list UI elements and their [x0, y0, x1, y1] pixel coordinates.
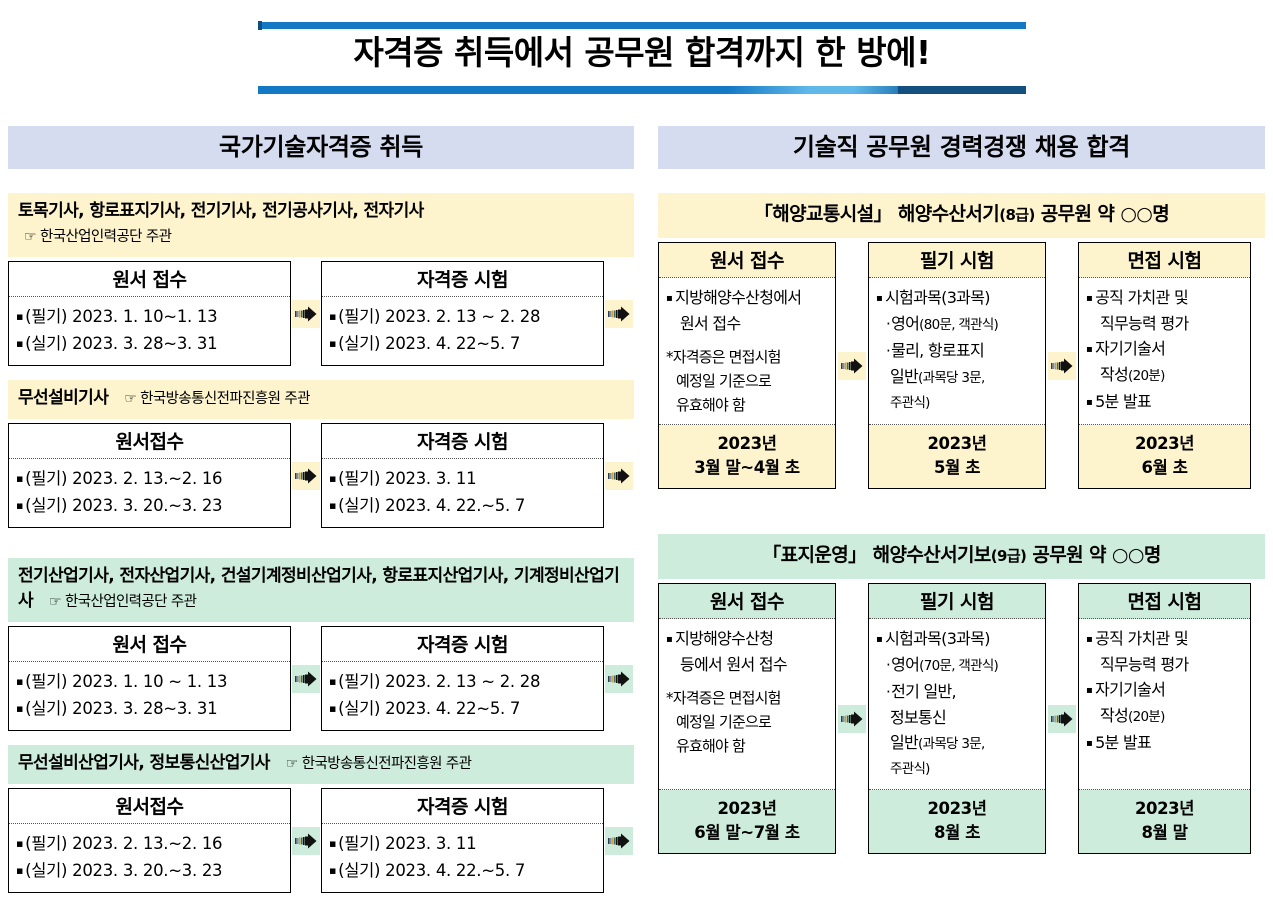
- schedule-row: ▪(실기) 2023. 3. 20.~3. 23: [16, 857, 286, 884]
- arrow-right-icon: [1048, 705, 1076, 733]
- stage-schedule: 2023년8월 말: [1079, 790, 1250, 853]
- step-title: 자격증 시험: [322, 424, 603, 459]
- flow-arrow: [604, 788, 634, 893]
- bullet-square-icon: ▪: [1086, 634, 1092, 645]
- cert-step-box: 자격증 시험▪(필기) 2023. 3. 11▪(실기) 2023. 4. 22…: [321, 423, 604, 528]
- bullet-square-icon: ▪: [1086, 293, 1092, 304]
- arrow-right-icon: [605, 462, 633, 490]
- detail-note: (과목당 3문,: [918, 736, 985, 752]
- stage-line: 일반(과목당 3문,: [876, 730, 1039, 757]
- bullet-square-icon: ▪: [1086, 344, 1092, 355]
- flow-arrow: [604, 261, 634, 366]
- stage-schedule: 2023년3월 말~4월 초: [659, 425, 835, 488]
- schedule-period: 8월 말: [1079, 821, 1250, 845]
- stage-note: 유효해야 함: [666, 734, 829, 758]
- stage-line: ▪지방해양수산청: [666, 626, 829, 652]
- schedule-row: ▪(실기) 2023. 3. 28~3. 31: [16, 330, 286, 357]
- schedule-year: 2023년: [1079, 797, 1250, 821]
- schedule-period: 8월 초: [869, 821, 1045, 845]
- recruitment-group: 「표지운영」 해양수산서기보(9급) 공무원 약 ○○명원서 접수▪지방해양수산…: [658, 489, 1265, 854]
- flow-arrow: [291, 788, 321, 893]
- arrow-right-icon: [292, 462, 320, 490]
- step-body: ▪(필기) 2023. 2. 13 ~ 2. 28▪(실기) 2023. 4. …: [322, 662, 603, 730]
- bullet-square-icon: ▪: [329, 702, 336, 715]
- schedule-row: ▪(필기) 2023. 2. 13.~2. 16: [16, 465, 286, 492]
- bullet-square-icon: ▪: [329, 337, 336, 350]
- stage-title: 면접 시험: [1079, 243, 1250, 278]
- stage-note: *자격증은 면접시험: [666, 345, 829, 369]
- bullet-square-icon: ▪: [16, 472, 23, 485]
- hand-pointer-icon: ☞: [49, 594, 61, 610]
- stage-line: 주관식): [876, 757, 1039, 782]
- arrow-right-icon: [292, 300, 320, 328]
- bullet-square-icon: ▪: [16, 310, 23, 323]
- group-spacer: [8, 366, 634, 380]
- cert-group: 무선설비기사 ☞ 한국방송통신전파진흥원 주관원서접수▪(필기) 2023. 2…: [8, 366, 634, 528]
- stage-line: ▪5분 발표: [1086, 730, 1244, 756]
- position-count: 공무원 약 ○○명: [1026, 544, 1160, 566]
- stage-line: ▪시험과목(3과목): [876, 626, 1039, 652]
- organizer-label: ☞ 한국방송통신전파진흥원 주관: [124, 391, 310, 407]
- stage-title: 면접 시험: [1079, 584, 1250, 619]
- arrow-right-icon: [292, 827, 320, 855]
- schedule-period: 5월 초: [869, 456, 1045, 480]
- schedule-row: ▪(필기) 2023. 1. 10 ~ 1. 13: [16, 668, 286, 695]
- cert-name-band: 무선설비기사 ☞ 한국방송통신전파진흥원 주관: [8, 380, 634, 419]
- schedule-year: 2023년: [869, 797, 1045, 821]
- line-gap: [666, 677, 829, 686]
- stage-title: 필기 시험: [869, 243, 1045, 278]
- flow-arrow: [291, 626, 321, 731]
- position-grade: (8급): [999, 206, 1035, 224]
- stage-box: 필기 시험▪시험과목(3과목)·영어(80문, 객관식)·물리, 항로표지일반(…: [868, 242, 1046, 489]
- stage-box: 원서 접수▪지방해양수산청에서원서 접수*자격증은 면접시험예정일 기준으로유효…: [658, 242, 836, 489]
- detail-note: (20분): [1128, 368, 1165, 384]
- arrow-right-icon: [1048, 352, 1076, 380]
- stage-note: 예정일 기준으로: [666, 710, 829, 734]
- bullet-square-icon: ▪: [329, 675, 336, 688]
- stage-body: ▪공직 가치관 및직무능력 평가▪자기기술서작성(20분)▪5분 발표: [1079, 278, 1250, 425]
- detail-note: (80문, 객관식): [919, 317, 998, 333]
- schedule-row: ▪(실기) 2023. 3. 28~3. 31: [16, 695, 286, 722]
- group-spacer: [8, 731, 634, 745]
- stage-line: 정보통신: [876, 705, 1039, 730]
- step-body: ▪(필기) 2023. 1. 10 ~ 1. 13▪(실기) 2023. 3. …: [9, 662, 290, 730]
- bullet-square-icon: ▪: [329, 472, 336, 485]
- group-spacer: [8, 169, 634, 193]
- stage-box: 원서 접수▪지방해양수산청등에서 원서 접수*자격증은 면접시험예정일 기준으로…: [658, 583, 836, 854]
- schedule-row: ▪(필기) 2023. 2. 13 ~ 2. 28: [329, 303, 599, 330]
- flow-arrow: [291, 423, 321, 528]
- position-title-band: 「표지운영」 해양수산서기보(9급) 공무원 약 ○○명: [658, 534, 1265, 579]
- bullet-square-icon: ▪: [16, 337, 23, 350]
- group-spacer: [658, 489, 1265, 534]
- stage-box: 필기 시험▪시험과목(3과목)·영어(70문, 객관식)·전기 일반,정보통신일…: [868, 583, 1046, 854]
- schedule-year: 2023년: [659, 797, 835, 821]
- stage-line: ▪공직 가치관 및: [1086, 285, 1244, 311]
- organizer-label: ☞ 한국산업인력공단 주관: [49, 594, 196, 610]
- page-title-banner: 자격증 취득에서 공무원 합격까지 한 방에!: [258, 22, 1026, 94]
- schedule-year: 2023년: [659, 432, 835, 456]
- cert-step-row: 원서 접수▪(필기) 2023. 1. 10 ~ 1. 13▪(실기) 2023…: [8, 626, 634, 731]
- schedule-row: ▪(필기) 2023. 3. 11: [329, 465, 599, 492]
- step-title: 원서접수: [9, 424, 290, 459]
- arrow-right-icon: [292, 665, 320, 693]
- schedule-row: ▪(실기) 2023. 3. 20.~3. 23: [16, 492, 286, 519]
- organizer-label: ☞ 한국방송통신전파진흥원 주관: [286, 756, 472, 772]
- cert-group: 무선설비산업기사, 정보통신산업기사 ☞ 한국방송통신전파진흥원 주관원서접수▪…: [8, 731, 634, 893]
- stage-line: 주관식): [876, 391, 1039, 416]
- stage-line: 직무능력 평가: [1086, 652, 1244, 677]
- cert-step-row: 원서접수▪(필기) 2023. 2. 13.~2. 16▪(실기) 2023. …: [8, 788, 634, 893]
- stage-body: ▪시험과목(3과목)·영어(70문, 객관식)·전기 일반,정보통신일반(과목당…: [869, 619, 1045, 790]
- stage-line: ·전기 일반,: [876, 679, 1039, 705]
- bullet-square-icon: ▪: [16, 702, 23, 715]
- cert-name-band: 무선설비산업기사, 정보통신산업기사 ☞ 한국방송통신전파진흥원 주관: [8, 745, 634, 784]
- cert-step-box: 원서 접수▪(필기) 2023. 1. 10 ~ 1. 13▪(실기) 2023…: [8, 626, 291, 731]
- stage-line: ▪공직 가치관 및: [1086, 626, 1244, 652]
- page-title: 자격증 취득에서 공무원 합격까지 한 방에!: [258, 30, 1026, 76]
- flow-arrow: [291, 261, 321, 366]
- step-title: 자격증 시험: [322, 789, 603, 824]
- arrow-right-icon: [838, 352, 866, 380]
- bullet-square-icon: ▪: [1086, 685, 1092, 696]
- cert-group: 전기산업기사, 전자산업기사, 건설기계정비산업기사, 항로표지산업기사, 기계…: [8, 528, 634, 731]
- position-title-band: 「해양교통시설」 해양수산서기(8급) 공무원 약 ○○명: [658, 193, 1265, 238]
- step-body: ▪(필기) 2023. 2. 13 ~ 2. 28▪(실기) 2023. 4. …: [322, 297, 603, 365]
- cert-names: 토목기사, 항로표지기사, 전기기사, 전기공사기사, 전자기사: [18, 199, 624, 224]
- stage-line: ·물리, 항로표지: [876, 338, 1039, 364]
- stage-body: ▪지방해양수산청등에서 원서 접수*자격증은 면접시험예정일 기준으로유효해야 …: [659, 619, 835, 790]
- detail-note: (70문, 객관식): [919, 658, 998, 674]
- flow-arrow: [604, 423, 634, 528]
- cert-step-box: 자격증 시험▪(필기) 2023. 2. 13 ~ 2. 28▪(실기) 202…: [321, 261, 604, 366]
- bullet-square-icon: ▪: [16, 837, 23, 850]
- arrow-right-icon: [605, 300, 633, 328]
- bullet-square-icon: ▪: [16, 499, 23, 512]
- stage-schedule: 2023년6월 말~7월 초: [659, 790, 835, 853]
- arrow-right-icon: [838, 705, 866, 733]
- stage-line: 작성(20분): [1086, 703, 1244, 730]
- arrow-right-icon: [605, 827, 633, 855]
- flow-arrow: [836, 242, 868, 489]
- stage-box: 면접 시험▪공직 가치관 및직무능력 평가▪자기기술서작성(20분)▪5분 발표…: [1078, 583, 1251, 854]
- cert-step-row: 원서접수▪(필기) 2023. 2. 13.~2. 16▪(실기) 2023. …: [8, 423, 634, 528]
- flow-arrow: [1046, 242, 1078, 489]
- recruitment-group: 「해양교통시설」 해양수산서기(8급) 공무원 약 ○○명원서 접수▪지방해양수…: [658, 169, 1265, 489]
- schedule-period: 3월 말~4월 초: [659, 456, 835, 480]
- bullet-square-icon: ▪: [329, 310, 336, 323]
- cert-name-band: 전기산업기사, 전자산업기사, 건설기계정비산업기사, 항로표지산업기사, 기계…: [8, 558, 634, 622]
- left-column: 국가기술자격증 취득 토목기사, 항로표지기사, 전기기사, 전기공사기사, 전…: [8, 126, 634, 893]
- stage-body: ▪시험과목(3과목)·영어(80문, 객관식)·물리, 항로표지일반(과목당 3…: [869, 278, 1045, 425]
- cert-step-box: 원서접수▪(필기) 2023. 2. 13.~2. 16▪(실기) 2023. …: [8, 423, 291, 528]
- detail-note: (20분): [1128, 709, 1165, 725]
- cert-step-box: 원서 접수▪(필기) 2023. 1. 10~1. 13▪(실기) 2023. …: [8, 261, 291, 366]
- right-column-header: 기술직 공무원 경력경쟁 채용 합격: [658, 126, 1265, 169]
- flow-arrow: [836, 583, 868, 854]
- schedule-year: 2023년: [869, 432, 1045, 456]
- bullet-square-icon: ▪: [329, 837, 336, 850]
- schedule-year: 2023년: [1079, 432, 1250, 456]
- stage-body: ▪지방해양수산청에서원서 접수*자격증은 면접시험예정일 기준으로유효해야 함: [659, 278, 835, 425]
- schedule-row: ▪(필기) 2023. 3. 11: [329, 830, 599, 857]
- cert-name-band: 토목기사, 항로표지기사, 전기기사, 전기공사기사, 전자기사☞ 한국산업인력…: [8, 193, 634, 257]
- stage-line: ▪5분 발표: [1086, 389, 1244, 415]
- cert-names: 무선설비기사: [18, 388, 108, 408]
- hand-pointer-icon: ☞: [286, 756, 298, 772]
- line-gap: [666, 336, 829, 345]
- hand-pointer-icon: ☞: [124, 391, 136, 407]
- step-body: ▪(필기) 2023. 2. 13.~2. 16▪(실기) 2023. 3. 2…: [9, 459, 290, 527]
- left-column-groups: 토목기사, 항로표지기사, 전기기사, 전기공사기사, 전자기사☞ 한국산업인력…: [8, 169, 634, 893]
- stage-schedule: 2023년5월 초: [869, 425, 1045, 488]
- stage-row: 원서 접수▪지방해양수산청에서원서 접수*자격증은 면접시험예정일 기준으로유효…: [658, 242, 1265, 489]
- stage-schedule: 2023년6월 초: [1079, 425, 1250, 488]
- stage-line: 등에서 원서 접수: [666, 652, 829, 677]
- stage-schedule: 2023년8월 초: [869, 790, 1045, 853]
- bullet-dot-icon: ·: [886, 315, 890, 333]
- stage-title: 원서 접수: [659, 584, 835, 619]
- step-body: ▪(필기) 2023. 3. 11▪(실기) 2023. 4. 22.~5. 7: [322, 459, 603, 527]
- step-body: ▪(필기) 2023. 3. 11▪(실기) 2023. 4. 22.~5. 7: [322, 824, 603, 892]
- bullet-square-icon: ▪: [666, 293, 672, 304]
- stage-line: ·영어(70문, 객관식): [876, 652, 1039, 679]
- stage-note: *자격증은 면접시험: [666, 686, 829, 710]
- stage-line: ·영어(80문, 객관식): [876, 311, 1039, 338]
- bullet-square-icon: ▪: [876, 634, 882, 645]
- bullet-dot-icon: ·: [886, 656, 890, 674]
- detail-note: (과목당 3문,: [918, 370, 985, 386]
- hand-pointer-icon: ☞: [24, 229, 36, 245]
- flow-arrow: [604, 626, 634, 731]
- stage-note: 유효해야 함: [666, 393, 829, 417]
- schedule-row: ▪(실기) 2023. 4. 22.~5. 7: [329, 857, 599, 884]
- position-name: 「해양교통시설」 해양수산서기: [754, 203, 999, 225]
- schedule-row: ▪(실기) 2023. 4. 22.~5. 7: [329, 492, 599, 519]
- bullet-square-icon: ▪: [876, 293, 882, 304]
- bullet-square-icon: ▪: [16, 864, 23, 877]
- stage-body: ▪공직 가치관 및직무능력 평가▪자기기술서작성(20분)▪5분 발표: [1079, 619, 1250, 790]
- cert-step-box: 자격증 시험▪(필기) 2023. 2. 13 ~ 2. 28▪(실기) 202…: [321, 626, 604, 731]
- group-spacer: [8, 528, 634, 558]
- bullet-square-icon: ▪: [329, 864, 336, 877]
- stage-line: ▪자기기술서: [1086, 336, 1244, 362]
- flow-arrow: [1046, 583, 1078, 854]
- position-grade: (9급): [991, 547, 1027, 565]
- cert-group: 토목기사, 항로표지기사, 전기기사, 전기공사기사, 전자기사☞ 한국산업인력…: [8, 169, 634, 366]
- bullet-square-icon: ▪: [666, 634, 672, 645]
- cert-step-box: 자격증 시험▪(필기) 2023. 3. 11▪(실기) 2023. 4. 22…: [321, 788, 604, 893]
- title-bottom-rule: [258, 86, 1026, 94]
- right-column: 기술직 공무원 경력경쟁 채용 합격 「해양교통시설」 해양수산서기(8급) 공…: [658, 126, 1265, 854]
- bullet-square-icon: ▪: [16, 675, 23, 688]
- stage-line: 직무능력 평가: [1086, 311, 1244, 336]
- schedule-row: ▪(필기) 2023. 2. 13.~2. 16: [16, 830, 286, 857]
- position-count: 공무원 약 ○○명: [1035, 203, 1169, 225]
- stage-line: 작성(20분): [1086, 362, 1244, 389]
- step-title: 원서 접수: [9, 262, 290, 297]
- bullet-square-icon: ▪: [1086, 738, 1092, 749]
- schedule-row: ▪(필기) 2023. 2. 13 ~ 2. 28: [329, 668, 599, 695]
- stage-line: ▪시험과목(3과목): [876, 285, 1039, 311]
- organizer-label: ☞ 한국산업인력공단 주관: [24, 229, 171, 245]
- schedule-row: ▪(실기) 2023. 4. 22~5. 7: [329, 330, 599, 357]
- stage-line: ▪지방해양수산청에서: [666, 285, 829, 311]
- step-body: ▪(필기) 2023. 2. 13.~2. 16▪(실기) 2023. 3. 2…: [9, 824, 290, 892]
- step-body: ▪(필기) 2023. 1. 10~1. 13▪(실기) 2023. 3. 28…: [9, 297, 290, 365]
- arrow-right-icon: [605, 665, 633, 693]
- step-title: 원서 접수: [9, 627, 290, 662]
- stage-row: 원서 접수▪지방해양수산청등에서 원서 접수*자격증은 면접시험예정일 기준으로…: [658, 583, 1265, 854]
- stage-line: ▪자기기술서: [1086, 677, 1244, 703]
- stage-title: 원서 접수: [659, 243, 835, 278]
- cert-step-box: 원서접수▪(필기) 2023. 2. 13.~2. 16▪(실기) 2023. …: [8, 788, 291, 893]
- bullet-square-icon: ▪: [329, 499, 336, 512]
- stage-title: 필기 시험: [869, 584, 1045, 619]
- stage-note: 예정일 기준으로: [666, 369, 829, 393]
- stage-line: 일반(과목당 3문,: [876, 364, 1039, 391]
- left-column-header: 국가기술자격증 취득: [8, 126, 634, 169]
- bullet-square-icon: ▪: [1086, 397, 1092, 408]
- step-title: 자격증 시험: [322, 627, 603, 662]
- schedule-row: ▪(필기) 2023. 1. 10~1. 13: [16, 303, 286, 330]
- stage-box: 면접 시험▪공직 가치관 및직무능력 평가▪자기기술서작성(20분)▪5분 발표…: [1078, 242, 1251, 489]
- group-spacer: [658, 169, 1265, 193]
- schedule-period: 6월 초: [1079, 456, 1250, 480]
- position-name: 「표지운영」 해양수산서기보: [762, 544, 991, 566]
- right-column-groups: 「해양교통시설」 해양수산서기(8급) 공무원 약 ○○명원서 접수▪지방해양수…: [658, 169, 1265, 854]
- cert-step-row: 원서 접수▪(필기) 2023. 1. 10~1. 13▪(실기) 2023. …: [8, 261, 634, 366]
- stage-line: 원서 접수: [666, 311, 829, 336]
- step-title: 원서접수: [9, 789, 290, 824]
- schedule-row: ▪(실기) 2023. 4. 22~5. 7: [329, 695, 599, 722]
- schedule-period: 6월 말~7월 초: [659, 821, 835, 845]
- title-top-rule: [258, 22, 1026, 29]
- bullet-dot-icon: ·: [886, 683, 890, 701]
- bullet-dot-icon: ·: [886, 342, 890, 360]
- step-title: 자격증 시험: [322, 262, 603, 297]
- cert-names: 무선설비산업기사, 정보통신산업기사: [18, 753, 270, 773]
